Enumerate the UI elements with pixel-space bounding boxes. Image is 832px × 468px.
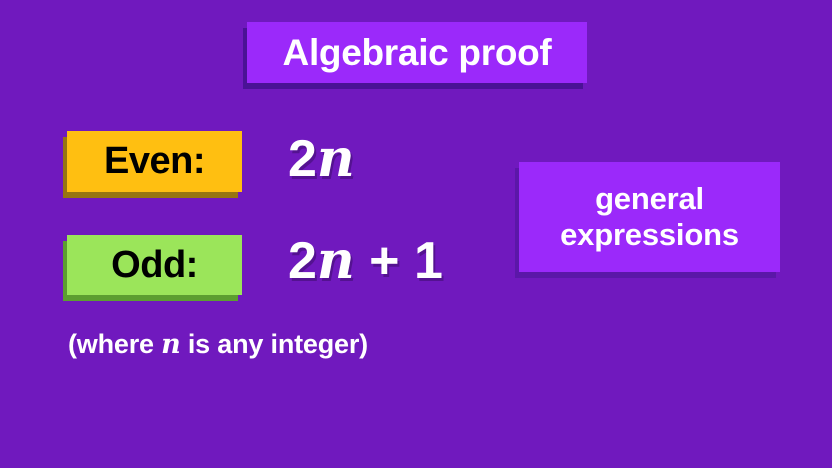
general-expressions-callout: general expressions	[519, 162, 780, 272]
odd-expression: 2n + 1	[288, 230, 443, 291]
even-label-badge: Even:	[67, 131, 242, 192]
even-expression-variable: n	[317, 128, 355, 189]
footnote-suffix: is any integer)	[181, 329, 368, 359]
odd-expression-suffix: + 1	[355, 232, 443, 290]
footnote-prefix: (where	[68, 329, 161, 359]
odd-label-text: Odd:	[111, 246, 198, 285]
slide-canvas: Algebraic proof Even: 2n Odd: 2n + 1 gen…	[0, 0, 832, 468]
even-expression: 2n	[288, 128, 355, 189]
general-expressions-line-2: expressions	[560, 217, 739, 253]
footnote-variable: n	[161, 329, 180, 360]
odd-expression-coefficient: 2	[288, 232, 317, 290]
even-expression-coefficient: 2	[288, 130, 317, 188]
general-expressions-line-1: general	[595, 181, 704, 217]
even-label-text: Even:	[104, 142, 205, 181]
page-title: Algebraic proof	[283, 34, 552, 72]
odd-label-badge: Odd:	[67, 235, 242, 295]
title-banner: Algebraic proof	[247, 22, 587, 83]
odd-expression-variable: n	[317, 230, 355, 291]
footnote: (where n is any integer)	[68, 329, 368, 360]
